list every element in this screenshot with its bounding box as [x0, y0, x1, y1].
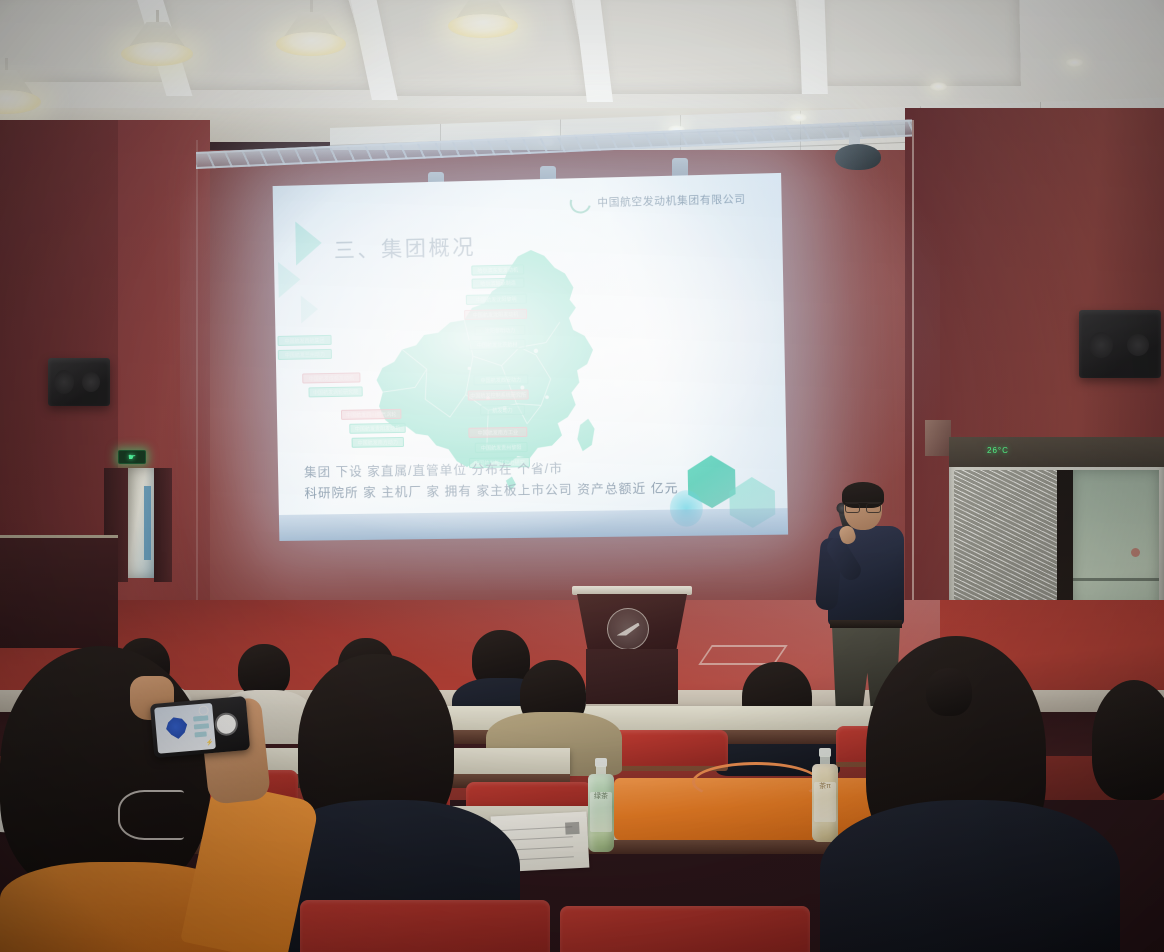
audience-seat	[560, 906, 810, 952]
running-man-icon: ☛	[128, 453, 136, 462]
slide-unit-tag: 中国航发西航集团	[277, 335, 331, 346]
photographer-glasses	[118, 790, 184, 840]
slide-unit-tag: 中国航发沈阳黎明	[466, 294, 527, 305]
camera-flash-icon[interactable]: ⚡	[206, 739, 214, 748]
slide-unit-tag: 航发动力	[480, 405, 525, 416]
slide-unit-tag: 沈阳黎明动力	[474, 325, 525, 336]
slide-surface: 中国航空发动机集团有限公司 三、集团概况	[273, 173, 789, 541]
bottle-label-text: 绿茶	[590, 792, 612, 801]
slide-unit-tag: 中国航发北京航材	[469, 339, 526, 350]
foreground-head-right-far	[1092, 680, 1164, 800]
bottle-label: 茶π	[814, 782, 836, 822]
bottle-label-text: 茶π	[814, 782, 836, 791]
slide-unit-tag: 中国航发贵州黎阳	[475, 442, 528, 453]
podium-base	[586, 649, 678, 704]
slide-company-logo: 中国航空发动机集团有限公司	[570, 188, 746, 214]
bottle-label: 绿茶	[590, 792, 612, 832]
wall-conduit-box	[925, 420, 951, 456]
audience-seat	[300, 900, 550, 952]
smartphone[interactable]: ⚙ ⚡	[150, 696, 250, 758]
pendant-light	[455, 0, 511, 42]
moving-head-projector	[829, 130, 881, 170]
viewfinder-slide-preview	[163, 714, 191, 742]
door-leaf	[154, 468, 172, 582]
camera-options-icon[interactable]: ⚙	[207, 729, 213, 737]
tote-handle	[692, 762, 820, 802]
slide-unit-tag: 哈尔滨轴承制造	[472, 277, 525, 288]
stage-left-riser	[0, 535, 118, 648]
podium-top	[572, 586, 692, 595]
podium-face	[577, 594, 687, 652]
pendant-light	[283, 0, 339, 62]
slide-unit-tag: 中国航发四川燃气涡轮	[341, 409, 402, 420]
slide-unit-tag: 哈尔滨东安发动机	[471, 264, 524, 275]
lecture-hall-photo: ☛ 26°C 中国航空发动机集团有限公司	[0, 0, 1164, 952]
crest-wing-mark	[617, 623, 640, 636]
audience-head	[926, 668, 972, 716]
slide-unit-tag: 中国航发兰州动力	[278, 349, 332, 360]
recessed-downlight	[790, 113, 807, 122]
wall-speaker-left	[48, 358, 110, 406]
slide-unit-tag: 中国航发南方工业	[468, 427, 527, 438]
wall-speaker-right	[1079, 310, 1161, 378]
presenter-glasses	[845, 502, 881, 511]
slide-unit-tag: 中国航发南方动力	[352, 437, 404, 448]
pendant-light	[128, 10, 186, 74]
slide-unit-tag: 中国航发西安动力	[473, 374, 528, 385]
exit-sign-left: ☛	[118, 450, 146, 464]
company-name: 中国航空发动机集团有限公司	[597, 191, 746, 210]
slide-unit-tag: 中国航发成都发动机	[302, 372, 360, 383]
slide-unit-tag: 中国航发贵阳发动机	[349, 423, 406, 434]
pendant-light	[0, 58, 34, 118]
ac-display: 26°C	[987, 446, 1009, 455]
recessed-downlight	[1066, 58, 1083, 67]
slide-unit-tag: 中国航发涡轮研究院	[308, 386, 362, 397]
podium	[572, 586, 692, 704]
aecc-ring-logo-icon	[566, 189, 595, 218]
shutter-button-icon[interactable]	[216, 714, 237, 735]
university-crest-icon	[607, 608, 649, 650]
wall-seam	[196, 140, 198, 680]
exit-door-left	[128, 468, 154, 578]
slide-unit-tag: 中国航发控制系统研究所	[468, 389, 529, 400]
slide-unit-tag: 中国航发沈阳发动机	[464, 309, 527, 320]
foreground-shoulders-right	[820, 800, 1120, 952]
ac-header-panel	[949, 437, 1164, 467]
projection-screen: 中国航空发动机集团有限公司 三、集团概况	[273, 173, 789, 541]
presenter-belt	[830, 620, 902, 628]
recessed-downlight	[930, 82, 947, 91]
